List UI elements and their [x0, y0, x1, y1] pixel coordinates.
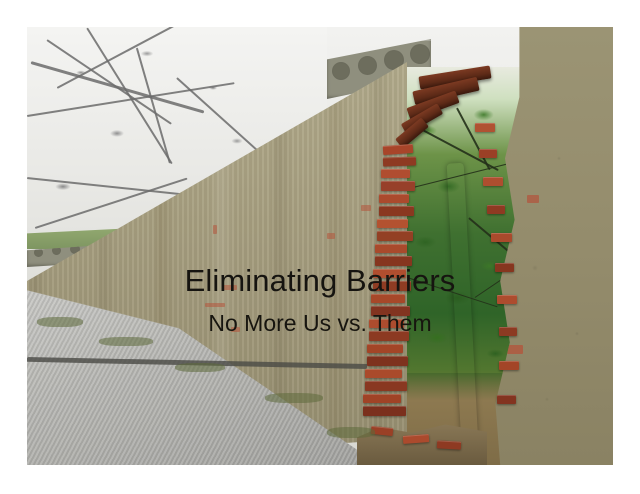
- hole-brick: [367, 356, 408, 366]
- background-photo: Eliminating Barriers No More Us vs. Them…: [27, 27, 613, 465]
- hole-brick: [377, 219, 408, 228]
- wall-rust-stain: [527, 195, 539, 203]
- moss-patch: [327, 427, 375, 438]
- slide-subtitle: No More Us vs. Them: [27, 310, 613, 337]
- hole-brick: [499, 361, 519, 370]
- hole-brick: [383, 156, 416, 166]
- moss-patch: [175, 363, 225, 372]
- lattice-cell: [411, 45, 429, 63]
- hole-brick: [365, 369, 402, 378]
- lattice-cell: [35, 249, 42, 256]
- hole-brick: [363, 394, 401, 403]
- hole-brick: [475, 123, 495, 132]
- hole-brick: [381, 169, 410, 178]
- hole-brick: [379, 206, 414, 216]
- rubble-brick: [437, 440, 461, 449]
- hole-brick: [365, 381, 407, 391]
- hole-brick: [497, 395, 516, 404]
- hole-brick: [487, 205, 505, 214]
- lattice-cell: [359, 57, 376, 74]
- slide-title: Eliminating Barriers: [27, 263, 613, 299]
- hole-brick: [483, 177, 503, 186]
- hole-brick: [367, 344, 403, 353]
- wall-rust-stain: [205, 303, 225, 307]
- wall-rust-stain: [327, 233, 335, 239]
- hole-brick: [377, 231, 413, 241]
- wall-rust-stain: [507, 345, 523, 354]
- moss-patch: [99, 337, 153, 346]
- hole-brick: [491, 233, 512, 242]
- hole-brick: [381, 181, 415, 191]
- slide-canvas: Eliminating Barriers No More Us vs. Them…: [0, 0, 640, 494]
- hole-brick: [375, 244, 407, 253]
- wall-rust-stain: [213, 225, 217, 234]
- moss-patch: [265, 393, 323, 403]
- hole-brick: [479, 149, 497, 158]
- wall-rust-stain: [361, 205, 371, 211]
- hole-brick: [363, 406, 406, 416]
- lattice-cell: [333, 63, 349, 79]
- hole-brick: [379, 194, 409, 203]
